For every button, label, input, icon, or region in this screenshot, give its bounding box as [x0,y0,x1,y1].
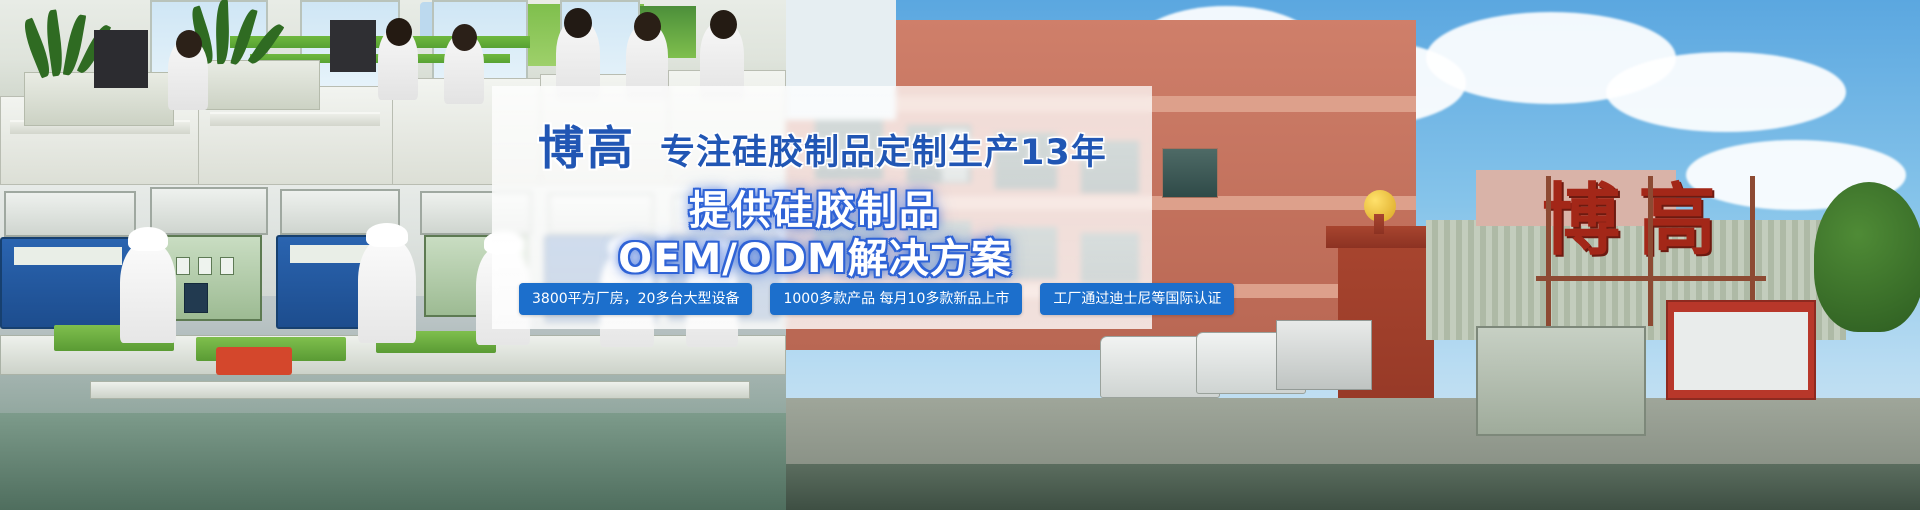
press-gauge [176,257,190,275]
promo-banner: 博 高 博高 专注硅胶制品定制生产13年 提供硅胶制品 OEM/ODM解决方案 [0,0,1920,510]
rooftop-sign-char-1: 博 [1542,182,1620,260]
worker-cap [128,227,168,251]
rooftop-sign: 博 高 [1542,176,1762,286]
office-planter-2 [190,60,320,110]
sign-strut [1546,176,1551,326]
building-window [1162,148,1218,198]
cloud [1606,52,1846,132]
sign-strut [1648,176,1653,326]
press-hood-2 [150,187,268,235]
headline-line-2-text: OEM/ODM解决方案 [618,226,1012,284]
brand-tagline: 专注硅胶制品定制生产13年 [660,124,1107,175]
factory-worker [358,239,416,343]
office-desk-2 [210,112,380,126]
feature-badge-certification[interactable]: 工厂通过迪士尼等国际认证 [1040,283,1234,315]
worker-cap [366,223,408,247]
feature-badge-product-count[interactable]: 1000多款产品 每月10多款新品上市 [770,283,1022,315]
office-monitor [330,20,376,72]
brand-logo-text: 博高 [538,112,636,178]
parked-truck [1276,320,1372,390]
feature-badge-factory-size[interactable]: 3800平方厂房，20多台大型设备 [519,283,752,315]
tree [1814,182,1920,332]
gate-lamp-post [1374,214,1384,234]
office-worker-head [176,30,202,58]
office-worker-head [710,10,737,39]
factory-floor [0,413,786,510]
press-label-1 [14,247,122,265]
feature-badge-list: 3800平方厂房，20多台大型设备 1000多款产品 每月10多款新品上市 工厂… [492,283,1192,315]
press-gauge [220,257,234,275]
guard-house [1476,326,1646,436]
headline-row: 博高 专注硅胶制品定制生产13年 [492,112,1152,168]
press-gauge [198,257,212,275]
factory-worker [120,243,176,343]
press-display [184,283,208,313]
asphalt-road [786,464,1920,510]
office-worker-head [634,12,661,41]
press-hood-1 [4,191,136,237]
office-worker-head [386,18,412,46]
office-monitor [94,30,148,88]
notice-board-surface [1674,312,1808,390]
office-worker-head [452,24,477,51]
headline-line-2: OEM/ODM解决方案 [492,226,1152,284]
office-worker-head [564,8,592,38]
red-parts-basket [216,347,292,375]
conveyor-rail [90,381,750,399]
